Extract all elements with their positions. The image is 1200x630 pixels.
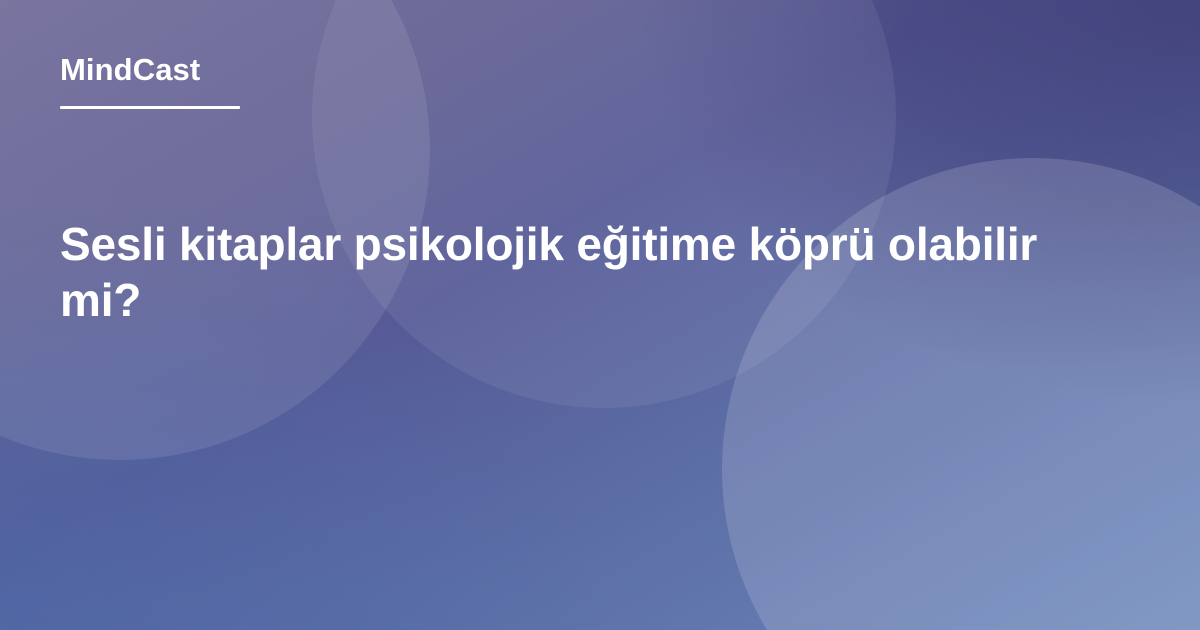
social-card: MindCast Sesli kitaplar psikolojik eğiti… [0,0,1200,630]
brand-underline-rule [60,106,240,109]
page-title: Sesli kitaplar psikolojik eğitime köprü … [60,216,1080,328]
brand: MindCast [60,52,240,109]
card-content: MindCast Sesli kitaplar psikolojik eğiti… [0,0,1200,630]
brand-name: MindCast [60,52,240,88]
